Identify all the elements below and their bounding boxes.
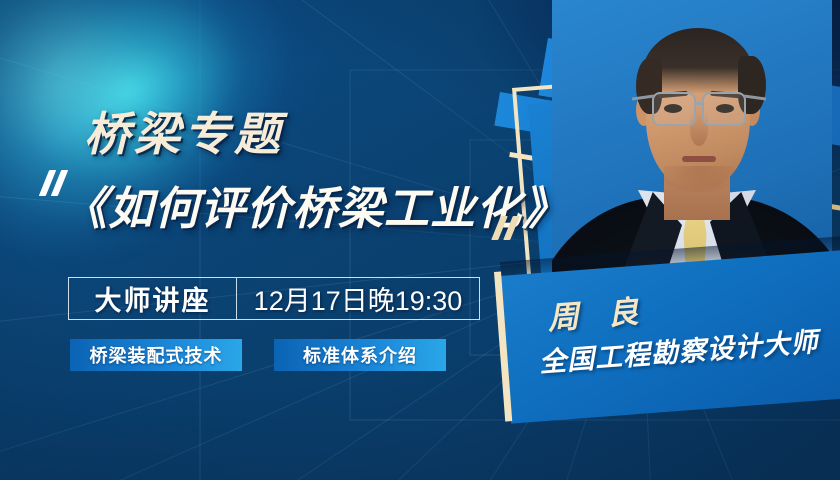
page-title: 《如何评价桥梁工业化》 bbox=[62, 172, 568, 237]
lecture-label-cell: 大师讲座 bbox=[69, 278, 237, 319]
lecture-label: 大师讲座 bbox=[95, 279, 211, 318]
webinar-poster: 周 良 全国工程勘察设计大师 桥梁专题 《如何评价桥梁工业化》 大师讲座 12月… bbox=[0, 0, 840, 480]
portrait-chin-shadow bbox=[664, 166, 734, 192]
topic-tag-1: 桥梁装配式技术 bbox=[70, 339, 242, 371]
topic-tag-2: 标准体系介绍 bbox=[274, 339, 446, 371]
portrait-mouth bbox=[682, 156, 716, 162]
portrait-glasses-right-lens bbox=[702, 92, 746, 126]
lecture-datetime-cell: 12月17日晚19:30 bbox=[237, 278, 479, 319]
poster-kicker: 桥梁专题 bbox=[84, 98, 284, 164]
portrait-glasses-bridge bbox=[694, 102, 704, 105]
quote-close-icon bbox=[494, 216, 528, 240]
lecture-datetime: 12月17日晚19:30 bbox=[254, 279, 463, 318]
lecture-info-box: 大师讲座 12月17日晚19:30 bbox=[68, 277, 480, 320]
portrait-glasses-left-lens bbox=[652, 92, 696, 126]
